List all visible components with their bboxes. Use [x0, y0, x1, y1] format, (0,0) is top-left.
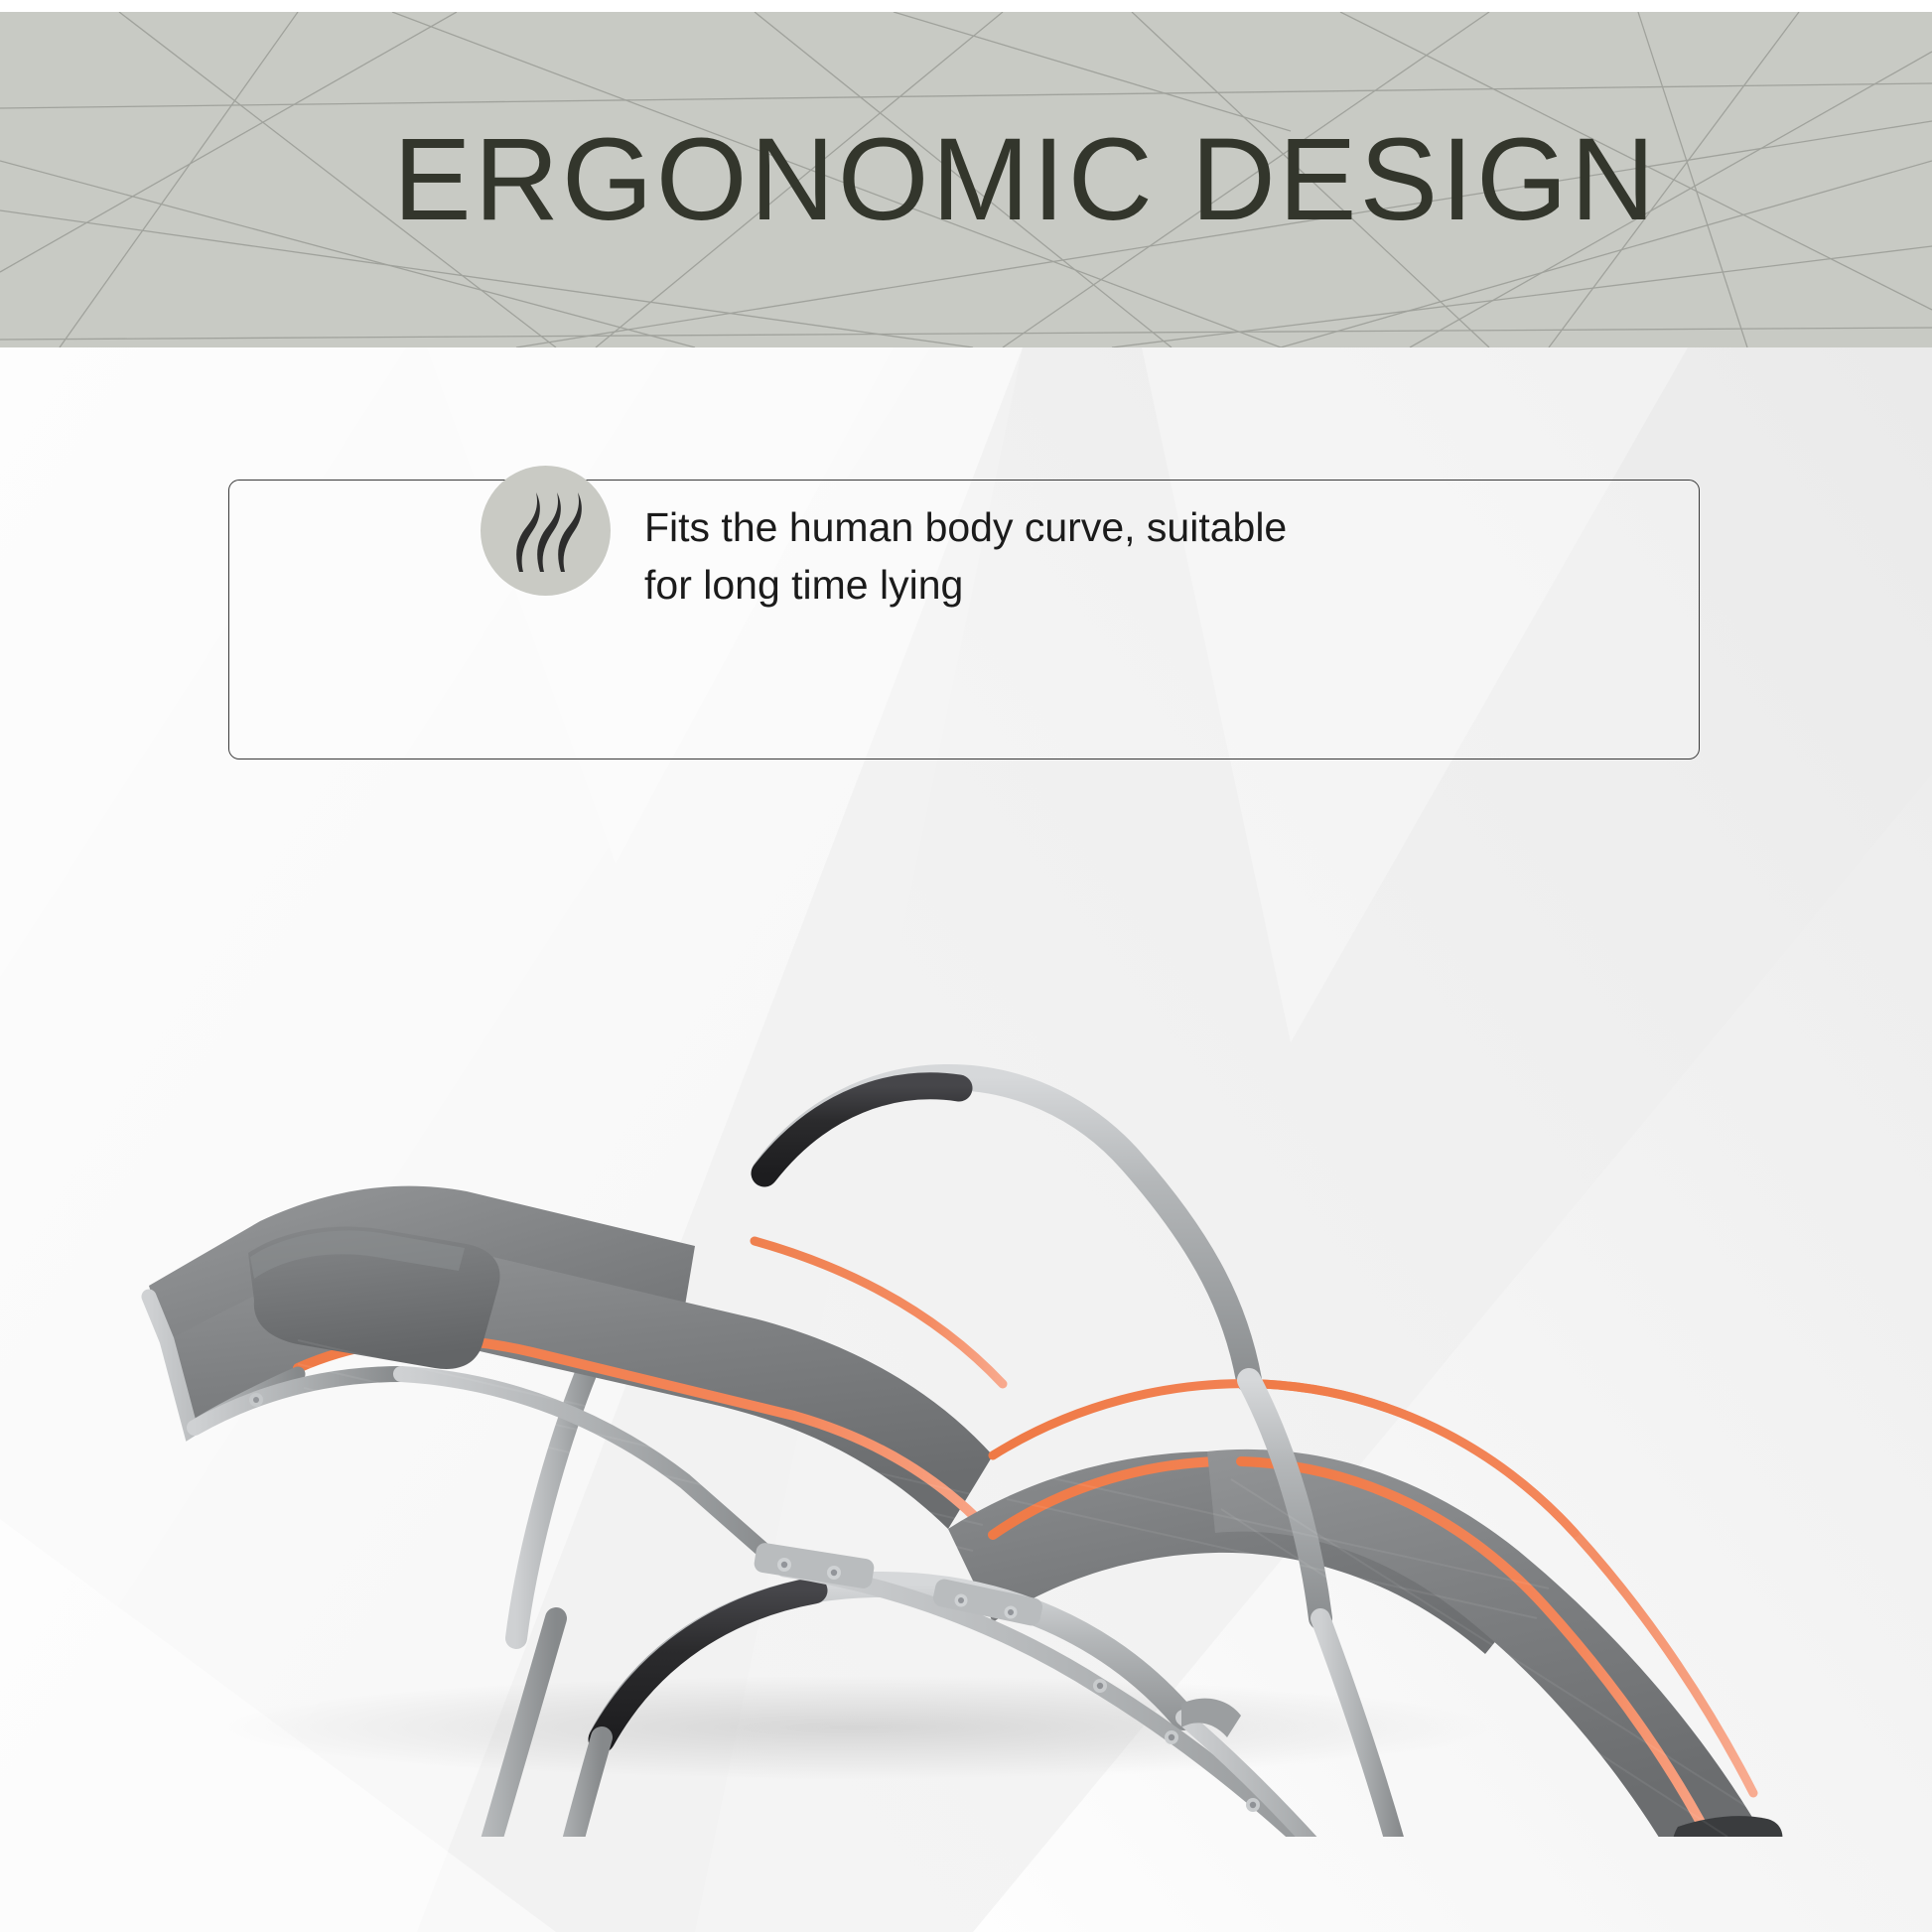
- product-image: [0, 745, 1932, 1837]
- feature-description: Fits the human body curve, suitable for …: [644, 498, 1637, 614]
- page-title: ERGONOMIC DESIGN: [0, 12, 1932, 347]
- header-banner: ERGONOMIC DESIGN: [0, 12, 1932, 347]
- content-area: Fits the human body curve, suitable for …: [0, 347, 1932, 1932]
- wave-curve-icon: [481, 466, 611, 596]
- feature-text-line-2: for long time lying: [644, 556, 1637, 614]
- feature-text-line-1: Fits the human body curve, suitable: [644, 498, 1637, 556]
- feature-card: Fits the human body curve, suitable for …: [228, 480, 1700, 759]
- product-feature-page: ERGONOMIC DESIGN: [0, 0, 1932, 1932]
